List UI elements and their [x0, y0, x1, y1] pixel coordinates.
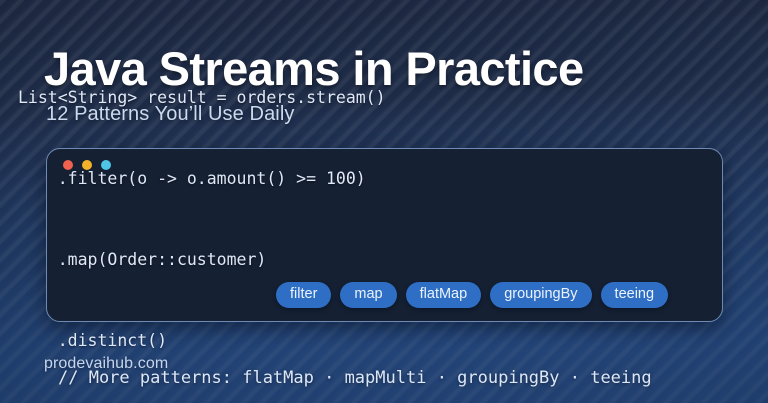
- poster-canvas: Java Streams in Practice 12 Patterns You…: [0, 0, 768, 403]
- code-line: .filter(o -> o.amount() >= 100): [18, 165, 718, 192]
- pill-map[interactable]: map: [340, 282, 396, 308]
- footer-comment-line: // More patterns: flatMap · mapMulti · g…: [58, 368, 652, 388]
- code-line: .map(Order::customer): [18, 246, 718, 273]
- pill-filter[interactable]: filter: [276, 282, 331, 308]
- pattern-pill-group: filter map flatMap groupingBy teeing: [276, 282, 668, 308]
- pill-groupingby[interactable]: groupingBy: [490, 282, 591, 308]
- code-line: List<String> result = orders.stream(): [18, 84, 718, 111]
- pill-flatmap[interactable]: flatMap: [406, 282, 482, 308]
- code-snippet: List<String> result = orders.stream() .f…: [18, 30, 718, 403]
- pill-teeing[interactable]: teeing: [601, 282, 669, 308]
- code-line: .distinct(): [18, 327, 718, 354]
